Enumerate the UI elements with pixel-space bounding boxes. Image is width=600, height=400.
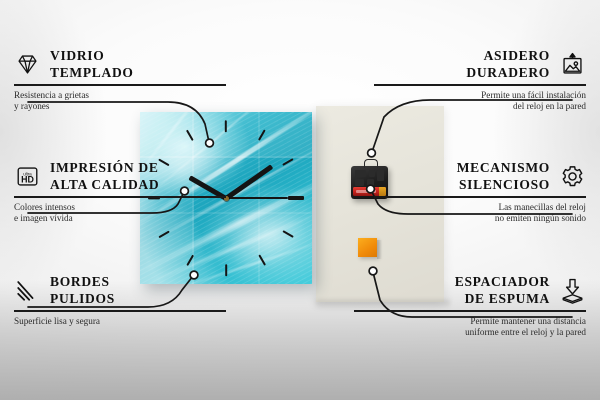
feature-title: BORDES PULIDOS <box>50 274 115 307</box>
feature-mecanismo-silencioso[interactable]: MECANISMO SILENCIOSO Las manecillas del … <box>374 160 586 224</box>
feature-vidrio-templado[interactable]: VIDRIO TEMPLADO Resistencia a grietas y … <box>14 48 226 112</box>
feature-title: VIDRIO TEMPLADO <box>50 48 134 81</box>
feature-divider <box>354 310 586 312</box>
feature-description: Las manecillas del reloj no emiten ningú… <box>374 202 586 225</box>
diamond-icon <box>14 51 41 78</box>
movement-detail <box>355 170 366 177</box>
polished-edge-lines-icon <box>14 277 41 304</box>
movement-detail <box>367 179 374 186</box>
battery-label <box>356 190 376 193</box>
feature-espaciador-de-espuma[interactable]: ESPACIADOR DE ESPUMA Permite mantener un… <box>354 274 586 338</box>
feature-title: ASIDERO DURADERO <box>466 48 550 81</box>
picture-hanger-icon <box>559 51 586 78</box>
ultra-hd-badge-icon: ultra HD <box>14 163 41 190</box>
feature-description: Colores intensos e imagen vívida <box>14 202 226 225</box>
feature-divider <box>14 84 226 86</box>
feature-description: Superficie lisa y segura <box>14 316 226 327</box>
feature-bordes-pulidos[interactable]: BORDES PULIDOS Superficie lisa y segura <box>14 274 226 327</box>
glass-grid-line <box>140 156 312 158</box>
glass-pane-tint <box>140 112 312 156</box>
feature-title: IMPRESIÓN DE ALTA CALIDAD <box>50 160 159 193</box>
feature-divider <box>374 196 586 198</box>
feature-divider <box>14 310 226 312</box>
feature-description: Permite una fácil instalación del reloj … <box>374 90 586 113</box>
feature-divider <box>14 196 226 198</box>
feature-title: MECANISMO SILENCIOSO <box>457 160 550 193</box>
feature-divider <box>374 84 586 86</box>
feature-description: Permite mantener una distancia uniforme … <box>354 316 586 339</box>
feature-title: ESPACIADOR DE ESPUMA <box>455 274 550 307</box>
arrow-down-pad-icon <box>559 277 586 304</box>
infographic-canvas: VIDRIO TEMPLADO Resistencia a grietas y … <box>0 0 600 400</box>
foam-spacer <box>358 238 377 257</box>
hour-marker-3 <box>288 196 304 200</box>
feature-asidero-duradero[interactable]: ASIDERO DURADERO Permite una fácil insta… <box>374 48 586 112</box>
gear-icon <box>559 163 586 190</box>
ultra-hd-large-text: HD <box>21 175 34 185</box>
movement-detail <box>355 179 364 186</box>
feature-impresion-alta-calidad[interactable]: ultra HD IMPRESIÓN DE ALTA CALIDAD Color… <box>14 160 226 224</box>
feature-description: Resistencia a grietas y rayones <box>14 90 226 113</box>
